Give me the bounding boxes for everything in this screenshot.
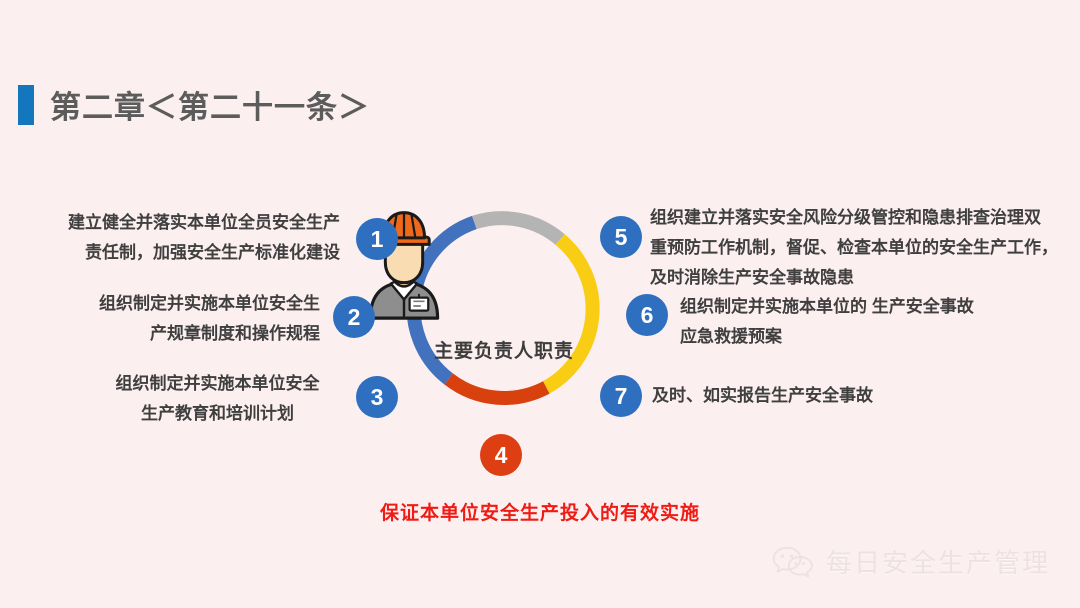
item-text-7: 及时、如实报告生产安全事故 (652, 381, 1012, 411)
ring-yellow-segment (546, 240, 592, 388)
item-text-2: 组织制定并实施本单位安全生 产规章制度和操作规程 (60, 289, 320, 349)
slide-canvas: 第二章＜第二十一条＞ (0, 0, 1080, 608)
ring-gray-segment (474, 218, 560, 239)
badge-3[interactable]: 3 (356, 376, 398, 418)
badge-1[interactable]: 1 (356, 218, 398, 260)
badge-6[interactable]: 6 (626, 294, 668, 336)
center-ring: 主要负责人职责 (404, 208, 604, 408)
item-text-5: 组织建立并落实安全风险分级管控和隐患排查治理双 重预防工作机制，督促、检查本单位… (650, 203, 1070, 293)
wechat-icon (772, 545, 814, 579)
item-text-6: 组织制定并实施本单位的 生产安全事故 应急救援预案 (680, 292, 1040, 352)
badge-5[interactable]: 5 (600, 216, 642, 258)
ring-orange-segment (449, 379, 547, 398)
badge-7[interactable]: 7 (600, 375, 642, 417)
watermark-text: 每日安全生产管理 (826, 543, 1050, 580)
watermark: 每日安全生产管理 (772, 543, 1050, 580)
title-accent-bar (18, 85, 34, 125)
item-text-1: 建立健全并落实本单位全员安全生产 责任制，加强安全生产标准化建设 (40, 208, 340, 268)
center-label: 主要负责人职责 (404, 336, 604, 363)
title-text: 第二章＜第二十一条＞ (50, 82, 370, 127)
badge-2[interactable]: 2 (333, 296, 375, 338)
bottom-caption: 保证本单位安全生产投入的有效实施 (0, 498, 1080, 525)
item-text-3: 组织制定并实施本单位安全 生产教育和培训计划 (95, 369, 340, 429)
badge-4[interactable]: 4 (480, 434, 522, 476)
page-title: 第二章＜第二十一条＞ (18, 82, 370, 127)
